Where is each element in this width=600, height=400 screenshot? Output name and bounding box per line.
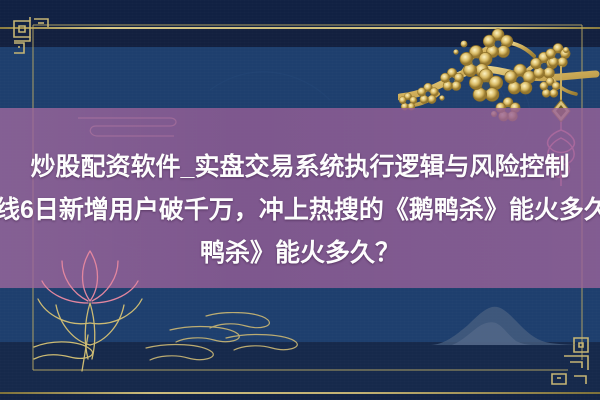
banner-canvas: 炒股配资软件_实盘交易系统执行逻辑与风险控制 上线6日新增用户破千万，冲上热搜的… xyxy=(0,0,600,400)
title-line-3: 鸭杀》能火多久？ xyxy=(0,232,600,275)
background-band-lower-navy xyxy=(0,342,600,394)
banner-title: 炒股配资软件_实盘交易系统执行逻辑与风险控制 上线6日新增用户破千万，冲上热搜的… xyxy=(0,108,600,288)
background-band-top xyxy=(0,0,600,27)
background-band-foot xyxy=(0,394,600,400)
background-band-upper-navy xyxy=(0,29,600,47)
title-line-1: 炒股配资软件_实盘交易系统执行逻辑与风险控制 xyxy=(0,146,600,189)
title-line-2: 上线6日新增用户破千万，冲上热搜的《鹅鸭杀》能火多久？ xyxy=(0,189,600,232)
